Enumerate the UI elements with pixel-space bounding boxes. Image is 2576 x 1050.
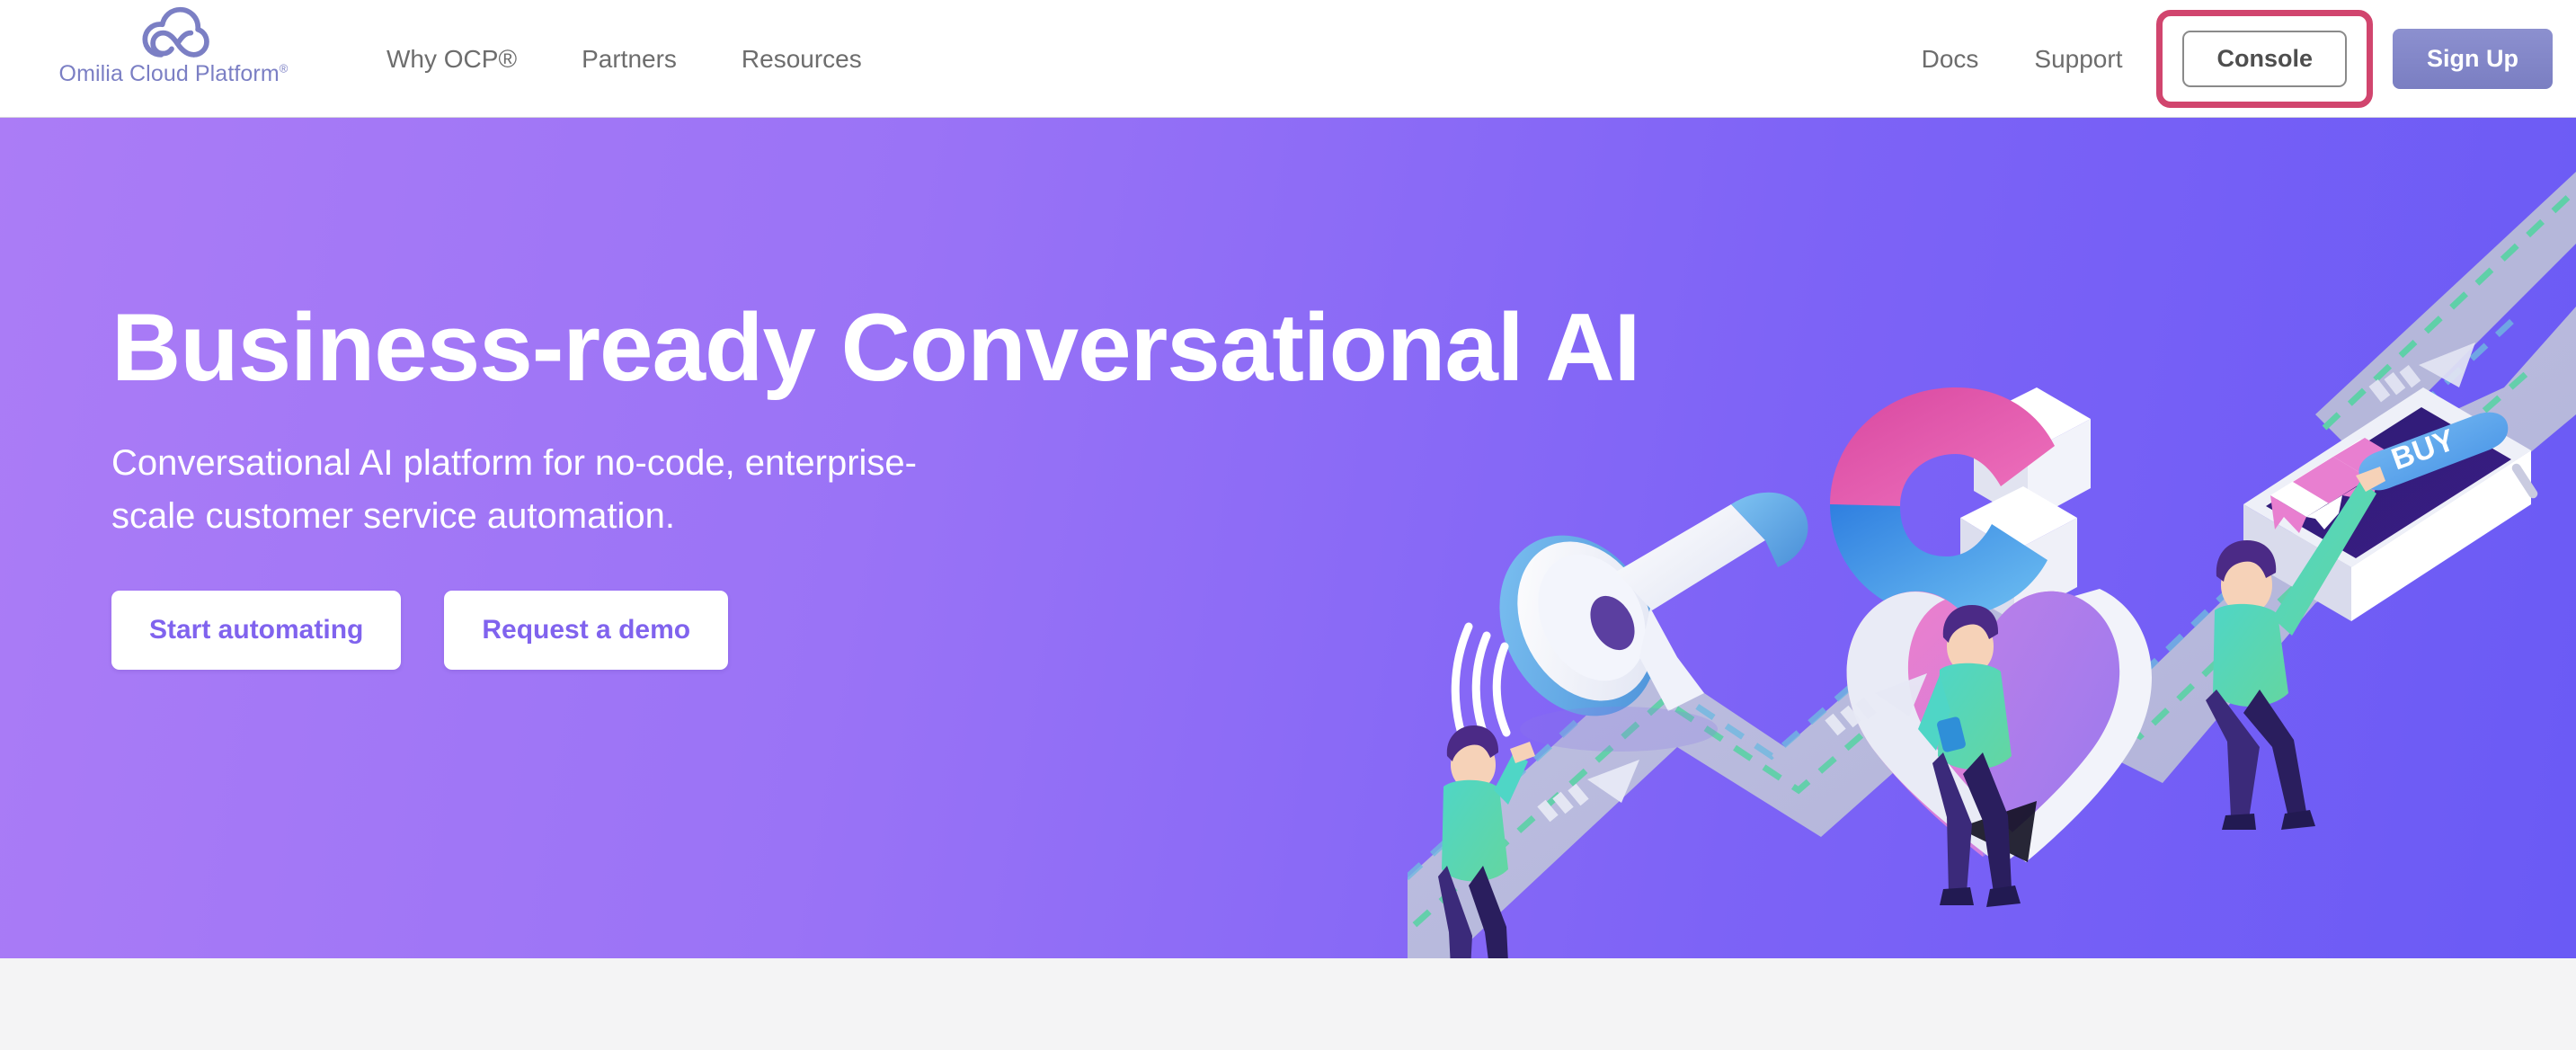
nav-link-support[interactable]: Support: [2034, 45, 2122, 74]
nav-link-partners[interactable]: Partners: [582, 45, 677, 74]
white-blocks: [1960, 387, 2091, 621]
sign-up-button[interactable]: Sign Up: [2393, 29, 2553, 89]
nav-link-why-ocp[interactable]: Why OCP®: [386, 45, 517, 74]
person-on-call: [1438, 725, 1535, 958]
ramp-arrow: [2368, 343, 2475, 402]
road-arrow-left: [1537, 760, 1639, 822]
console-button-highlight-box: Console: [2156, 10, 2373, 108]
upper-ramp: [2315, 172, 2576, 459]
cloud-infinity-logo-icon: [134, 2, 213, 59]
smartphone-storefront: BUY: [2243, 387, 2539, 621]
hero-actions: Start automating Request a demo: [111, 591, 1909, 670]
request-a-demo-button[interactable]: Request a demo: [444, 591, 728, 670]
brand-trademark: ®: [280, 62, 289, 76]
nav-link-docs[interactable]: Docs: [1922, 45, 1979, 74]
hero-subtitle-line-1: Conversational AI platform for no-code, …: [111, 443, 917, 483]
brand-logo-link[interactable]: Omilia Cloud Platform®: [25, 2, 322, 87]
striped-awning: [2270, 438, 2401, 533]
console-button[interactable]: Console: [2182, 31, 2347, 87]
hero-title: Business-ready Conversational AI: [111, 298, 1909, 397]
hero-subtitle: Conversational AI platform for no-code, …: [111, 437, 1082, 543]
svg-text:BUY: BUY: [2387, 423, 2460, 476]
main-navigation: Why OCP® Partners Resources: [386, 0, 862, 118]
hero-copy: Business-ready Conversational AI Convers…: [111, 298, 1909, 670]
site-header: Omilia Cloud Platform® Why OCP® Partners…: [0, 0, 2576, 118]
person-with-phone: [1918, 605, 2021, 907]
start-automating-button[interactable]: Start automating: [111, 591, 401, 670]
below-fold-section: [0, 958, 2576, 1050]
brand-name: Omilia Cloud Platform®: [59, 61, 289, 87]
hero-subtitle-line-2: scale customer service automation.: [111, 496, 675, 536]
nav-link-resources[interactable]: Resources: [742, 45, 862, 74]
road-arrow-right: [1825, 673, 1927, 735]
header-utility-area: Docs Support Console Sign Up: [1922, 0, 2553, 118]
buy-button: BUY: [2358, 413, 2508, 491]
hero-section: Business-ready Conversational AI Convers…: [0, 118, 2576, 958]
person-pointing: [2206, 467, 2385, 830]
